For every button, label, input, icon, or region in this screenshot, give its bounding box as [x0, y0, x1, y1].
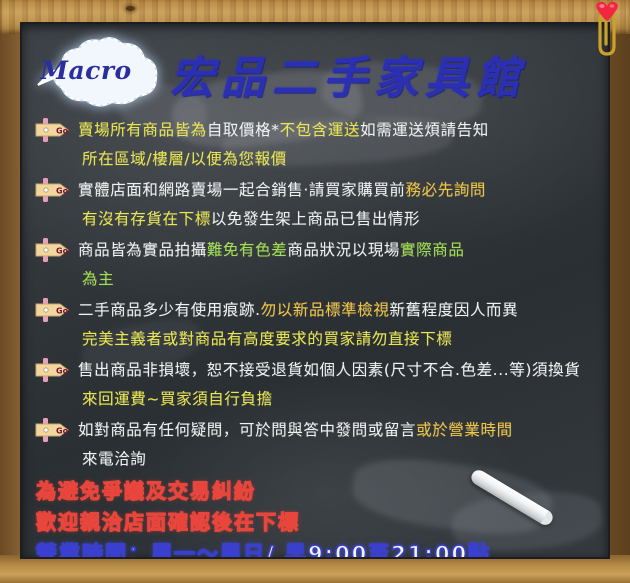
notice-segment: 來電洽詢: [82, 450, 146, 468]
go-arrow-sign-icon: Go: [34, 238, 74, 262]
go-arrow-sign-icon: Go: [34, 118, 74, 142]
notice-line: 所在區域/樓層/以便為您報價: [78, 145, 608, 174]
notice-segment: 所在區域/樓層/以便為您報價: [82, 150, 287, 168]
notice-item: Go售出商品非損壞，恕不接受退貨如個人因素(尺寸不合.色差...等)須換貨來回運…: [22, 356, 608, 414]
notice-segment: 二手商品多少有使用痕跡.: [78, 301, 261, 319]
blackboard: Macro 宏品二手家具館 Go賣場所有商品皆為自取價格*不包含運送如需運送煩請…: [22, 24, 608, 557]
notice-item: Go商品皆為實品拍攝難免有色差商品狀況以現場實際商品為主: [22, 236, 608, 294]
notice-segment: 賣場所有商品皆為: [78, 121, 207, 139]
paperclip-heart: [586, 0, 630, 58]
go-arrow-sign-icon: Go: [34, 358, 74, 382]
notice-line: 商品皆為實品拍攝難免有色差商品狀況以現場實際商品: [78, 236, 608, 265]
board-header: Macro 宏品二手家具館: [22, 30, 608, 108]
notice-segment: 如對商品有任何疑問，可於問與答中發問或留言: [78, 421, 416, 439]
notice-segment: 實際商品: [400, 241, 464, 259]
notice-line: 賣場所有商品皆為自取價格*不包含運送如需運送煩請告知: [78, 116, 608, 145]
notice-line: 售出商品非損壞，恕不接受退貨如個人因素(尺寸不合.色差...等)須換貨: [78, 356, 608, 385]
notice-line: 二手商品多少有使用痕跡.勿以新品標準檢視新舊程度因人而異: [78, 296, 608, 325]
notice-line: 為主: [78, 265, 608, 294]
notice-segment: 新舊程度因人而異: [389, 301, 518, 319]
notice-line: 有沒有存貨在下標以免發生架上商品已售出情形: [78, 205, 608, 234]
notice-segment: 務必先詢問: [406, 181, 487, 199]
notice-item: Go賣場所有商品皆為自取價格*不包含運送如需運送煩請告知所在區域/樓層/以便為您…: [22, 116, 608, 174]
wood-frame-bottom: [0, 555, 630, 583]
shop-name: 宏品二手家具館: [170, 42, 527, 106]
notice-segment: 或於營業時間: [416, 421, 513, 439]
notice-segment: 為主: [82, 270, 114, 288]
go-arrow-sign-icon: Go: [34, 178, 74, 202]
notice-item: Go實體店面和網路賣場一起合銷售‧請買家購買前務必先詢問有沒有存貨在下標以免發生…: [22, 176, 608, 234]
notice-segment: 來回運費~買家須自行負擔: [82, 390, 273, 408]
go-arrow-sign-icon: Go: [34, 418, 74, 442]
notice-line: 實體店面和網路賣場一起合銷售‧請買家購買前務必先詢問: [78, 176, 608, 205]
chalkboard-photo: Macro 宏品二手家具館 Go賣場所有商品皆為自取價格*不包含運送如需運送煩請…: [0, 0, 630, 583]
go-arrow-sign-icon: Go: [34, 298, 74, 322]
notice-list: Go賣場所有商品皆為自取價格*不包含運送如需運送煩請告知所在區域/樓層/以便為您…: [22, 116, 608, 476]
svg-text:Go: Go: [56, 127, 69, 136]
notice-segment: 售出商品非損壞，恕不接受退貨如個人因素(尺寸不合.色差...等)須換貨: [78, 361, 580, 379]
svg-text:Go: Go: [56, 307, 69, 316]
notice-item: Go二手商品多少有使用痕跡.勿以新品標準檢視新舊程度因人而異完美主義者或對商品有…: [22, 296, 608, 354]
notice-segment: 完美主義者或對商品有高度要求的買家請勿直接下標: [82, 330, 452, 348]
notice-segment: 如需運送煩請告知: [360, 121, 489, 139]
notice-line: 完美主義者或對商品有高度要求的買家請勿直接下標: [78, 325, 608, 354]
svg-text:Go: Go: [56, 367, 69, 376]
logo-text: Macro: [22, 56, 150, 85]
notice-segment: 以免發生架上商品已售出情形: [211, 210, 420, 228]
wood-knot: [126, 6, 135, 11]
notice-line: 如對商品有任何疑問，可於問與答中發問或留言或於營業時間: [78, 416, 608, 445]
notice-line: 來回運費~買家須自行負擔: [78, 385, 608, 414]
svg-text:Go: Go: [56, 427, 69, 436]
notice-segment: 難免有色差: [207, 241, 288, 259]
notice-segment: 勿以新品標準檢視: [261, 301, 390, 319]
footer-block: 為避免爭議及交易糾紛歡迎親洽店面確認後在下標營業時間：周一～周日/ 早9:00至…: [36, 476, 608, 557]
notice-segment: 實體店面和網路賣場一起合銷售‧請買家購買前: [78, 181, 406, 199]
notice-segment: 商品狀況以現場: [287, 241, 400, 259]
notice-segment: 有沒有存貨在下標: [82, 210, 211, 228]
svg-text:Go: Go: [56, 247, 69, 256]
svg-text:Go: Go: [56, 187, 69, 196]
notice-segment: 不包含運送: [280, 121, 361, 139]
notice-segment: 自取價格*: [207, 121, 280, 139]
notice-segment: 商品皆為實品拍攝: [78, 241, 207, 259]
notice-item: Go如對商品有任何疑問，可於問與答中發問或留言或於營業時間來電洽詢: [22, 416, 608, 474]
notice-line: 來電洽詢: [78, 445, 608, 474]
business-hours: 營業時間：周一～周日/ 早9:00至21:00點: [36, 538, 608, 557]
